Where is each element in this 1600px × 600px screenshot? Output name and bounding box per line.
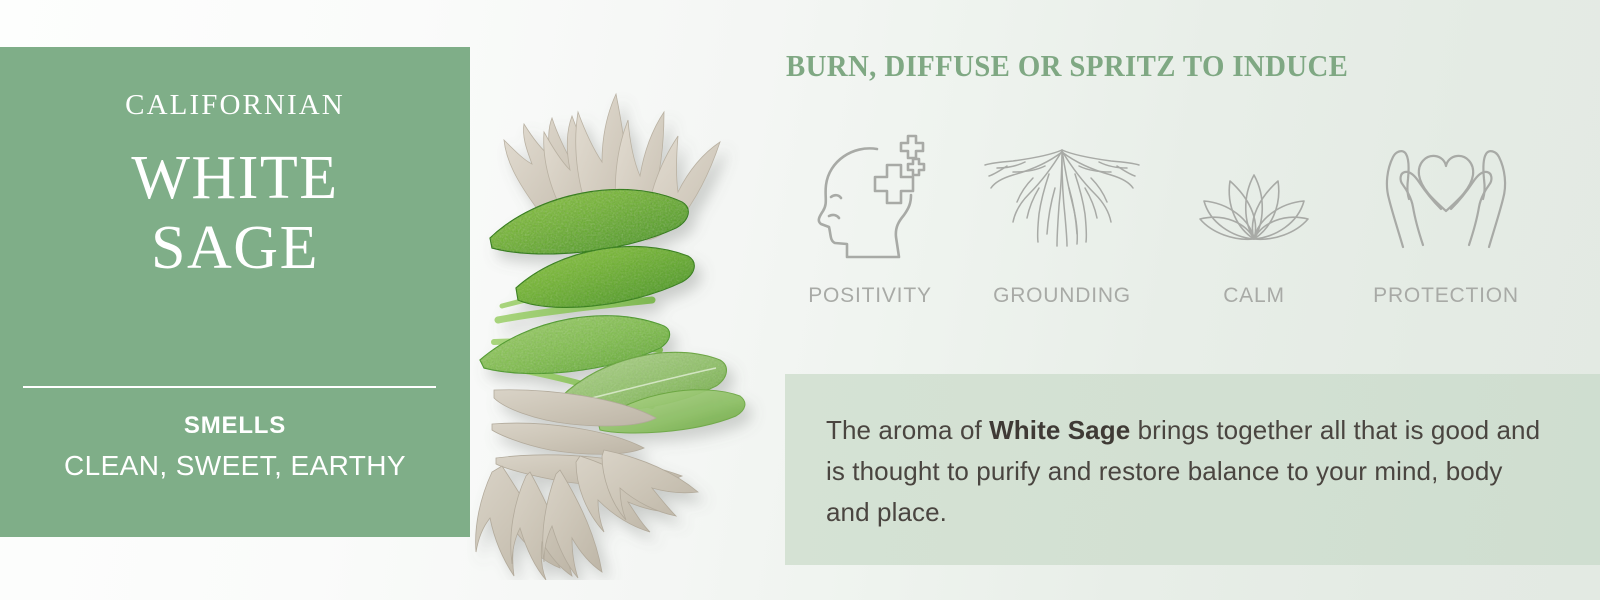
white-sage-plant-image: [420, 20, 780, 580]
benefit-label: GROUNDING: [972, 284, 1152, 308]
benefit-label: POSITIVITY: [780, 284, 960, 308]
product-title: WHITE SAGE: [0, 143, 470, 283]
description-emphasis: White Sage: [989, 415, 1130, 445]
benefit-calm: CALM: [1164, 132, 1344, 308]
product-description-text: The aroma of White Sage brings together …: [826, 410, 1546, 533]
hands-holding-heart-icon: [1356, 132, 1536, 262]
panel-divider: [23, 386, 436, 388]
product-identity-panel: CALIFORNIAN WHITE SAGE SMELLS CLEAN, SWE…: [0, 47, 470, 537]
benefit-protection: PROTECTION: [1356, 132, 1536, 308]
description-part-1: The aroma of: [826, 415, 989, 445]
usage-heading: BURN, DIFFUSE OR SPRITZ TO INDUCE: [786, 48, 1348, 84]
benefit-label: CALM: [1164, 284, 1344, 308]
product-title-line-1: WHITE: [0, 143, 470, 213]
product-banner: CALIFORNIAN WHITE SAGE SMELLS CLEAN, SWE…: [0, 0, 1600, 600]
roots-icon: [972, 132, 1152, 262]
benefit-positivity: POSITIVITY: [780, 132, 960, 308]
lotus-flower-icon: [1164, 132, 1344, 262]
smells-description: CLEAN, SWEET, EARTHY: [0, 450, 470, 482]
smells-heading: SMELLS: [0, 412, 470, 440]
benefits-row: POSITIVITY: [780, 132, 1536, 308]
product-origin-label: CALIFORNIAN: [0, 89, 470, 122]
product-description-box: The aroma of White Sage brings together …: [785, 374, 1600, 565]
benefit-label: PROTECTION: [1356, 284, 1536, 308]
head-with-crosses-icon: [780, 132, 960, 262]
product-title-line-2: SAGE: [0, 213, 470, 283]
benefit-grounding: GROUNDING: [972, 132, 1152, 308]
